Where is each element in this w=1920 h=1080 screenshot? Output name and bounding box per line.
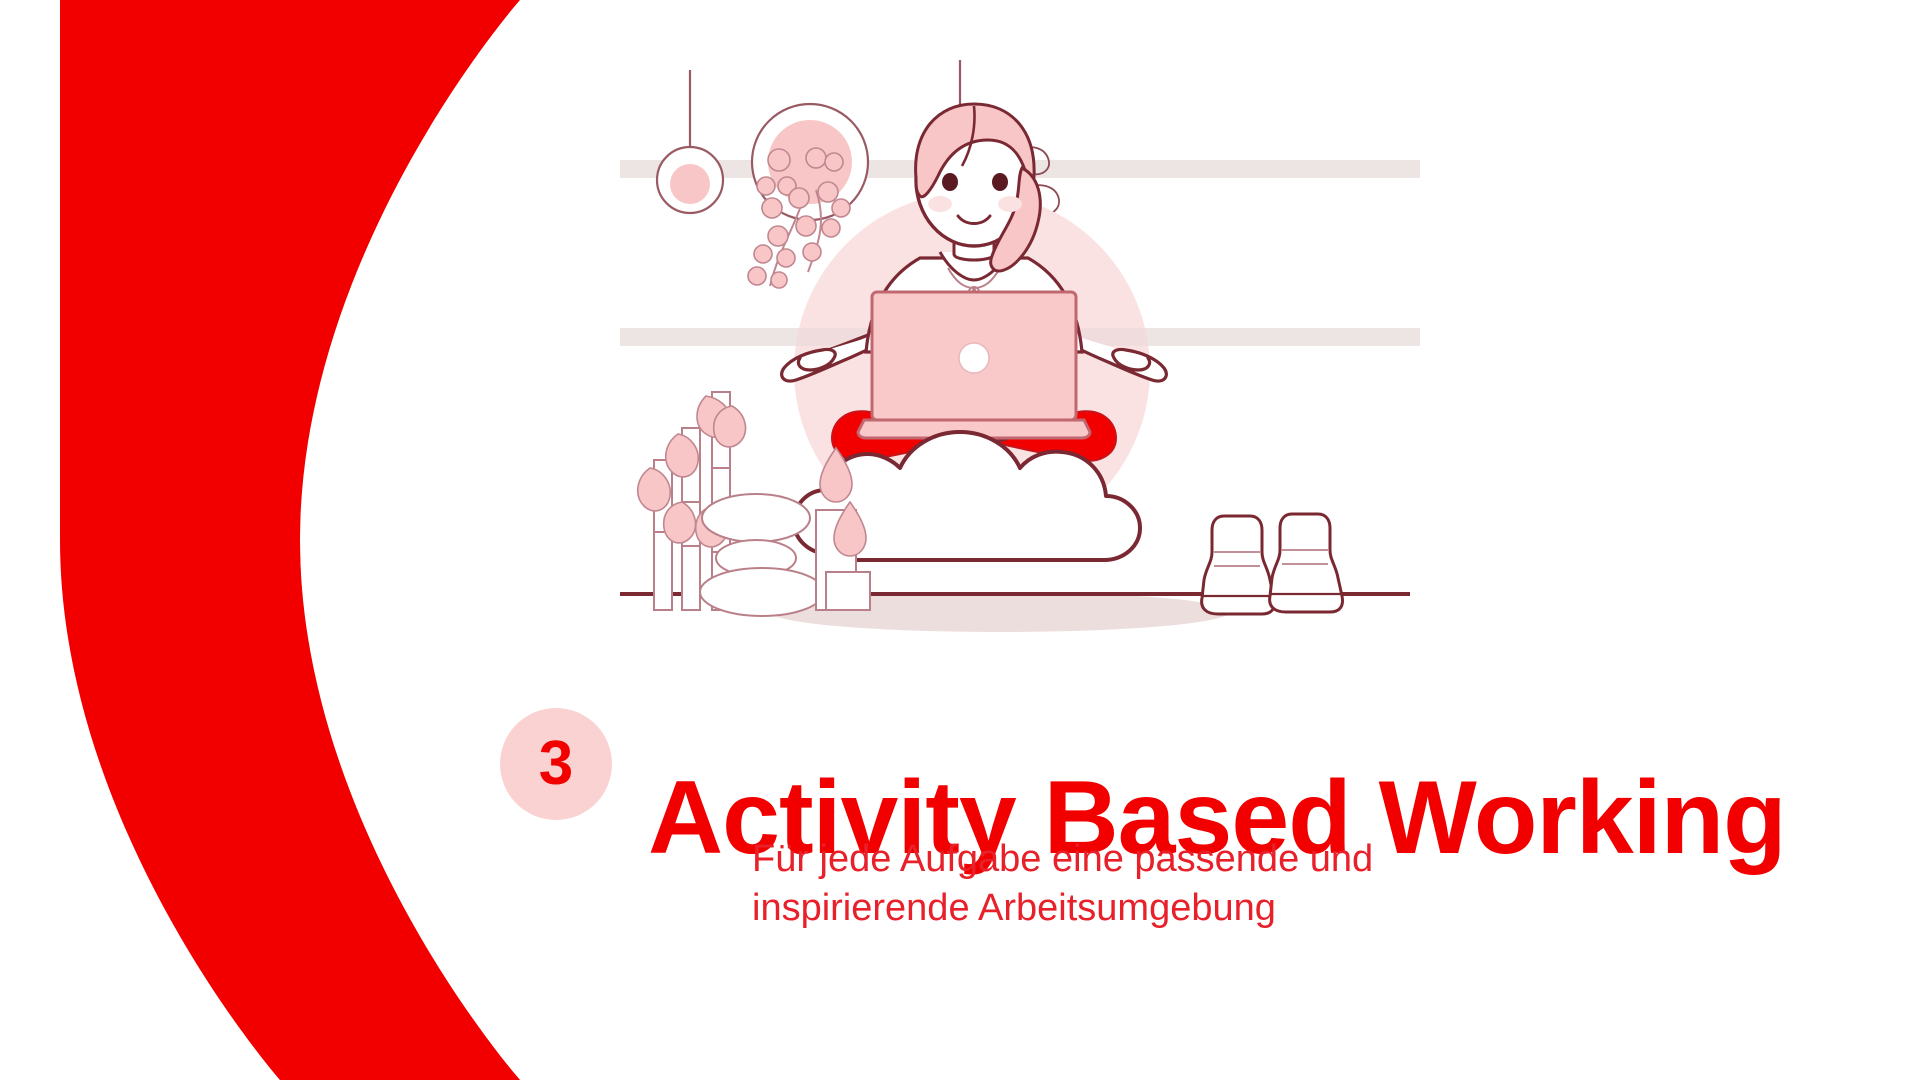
step-number-badge: 3 xyxy=(500,708,612,820)
subtitle-line-2: inspirierende Arbeitsumgebung xyxy=(752,884,1373,933)
illustration-meditation-scene xyxy=(620,40,1420,640)
eye-right xyxy=(992,173,1008,191)
page-subtitle: Für jede Aufgabe eine passende und inspi… xyxy=(752,835,1373,934)
zen-stones xyxy=(700,494,824,616)
slide-canvas: 3 Activity Based Working Für jede Aufgab… xyxy=(0,0,1920,1080)
sneakers xyxy=(1202,514,1343,614)
step-number-label: 3 xyxy=(539,733,573,795)
hanging-planter-small xyxy=(657,70,723,213)
subtitle-line-1: Für jede Aufgabe eine passende und xyxy=(752,835,1373,884)
eye-left xyxy=(942,173,958,191)
title-block: 3 Activity Based Working Für jede Aufgab… xyxy=(500,690,1880,990)
laptop xyxy=(858,292,1090,438)
